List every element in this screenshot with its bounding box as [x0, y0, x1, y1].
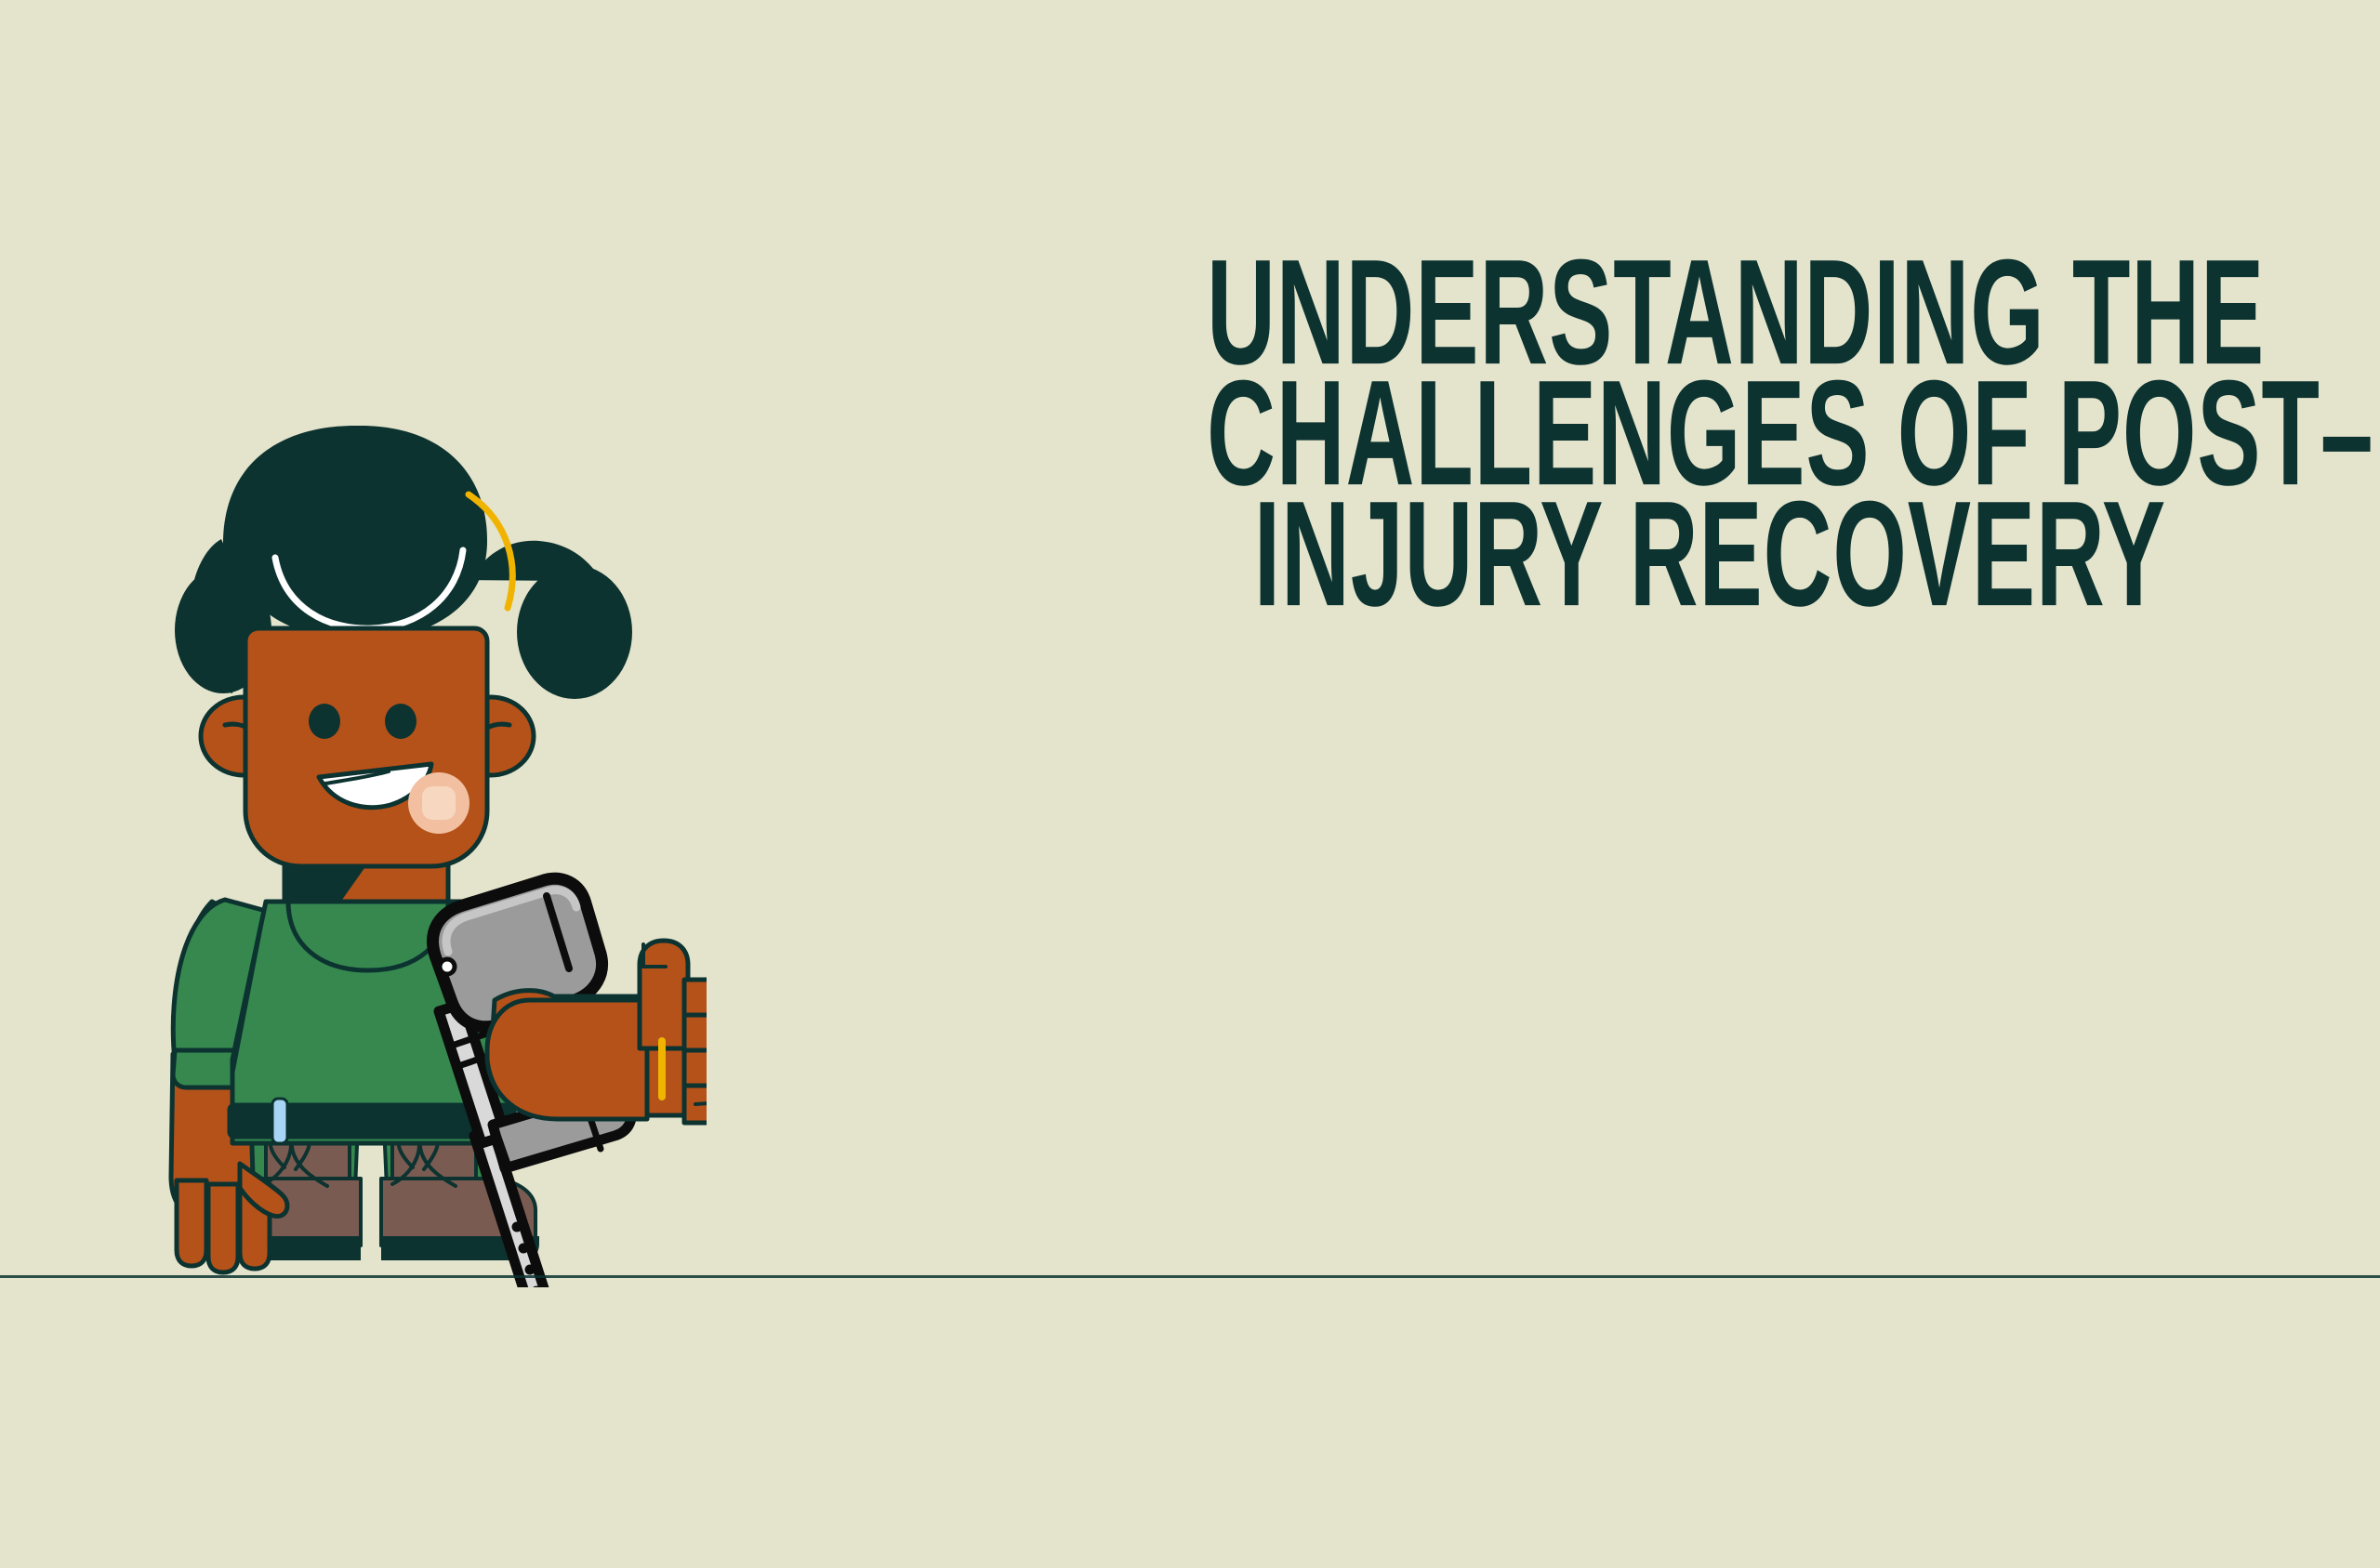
slide-root: UNDERSTANDING THE CHALLENGES OF POST– IN… — [0, 0, 2380, 1568]
belt-accent-left — [272, 1099, 287, 1143]
face — [245, 628, 487, 866]
eye-right — [385, 704, 416, 739]
ground-line — [0, 1275, 2380, 1278]
page-title: UNDERSTANDING THE CHALLENGES OF POST– IN… — [967, 253, 2166, 615]
eye-left — [309, 704, 340, 739]
headline-line-3: INJURY RECOVERY — [1207, 479, 2166, 631]
person-with-crutch-illustration — [93, 409, 707, 1287]
bandage-icon — [422, 786, 456, 820]
